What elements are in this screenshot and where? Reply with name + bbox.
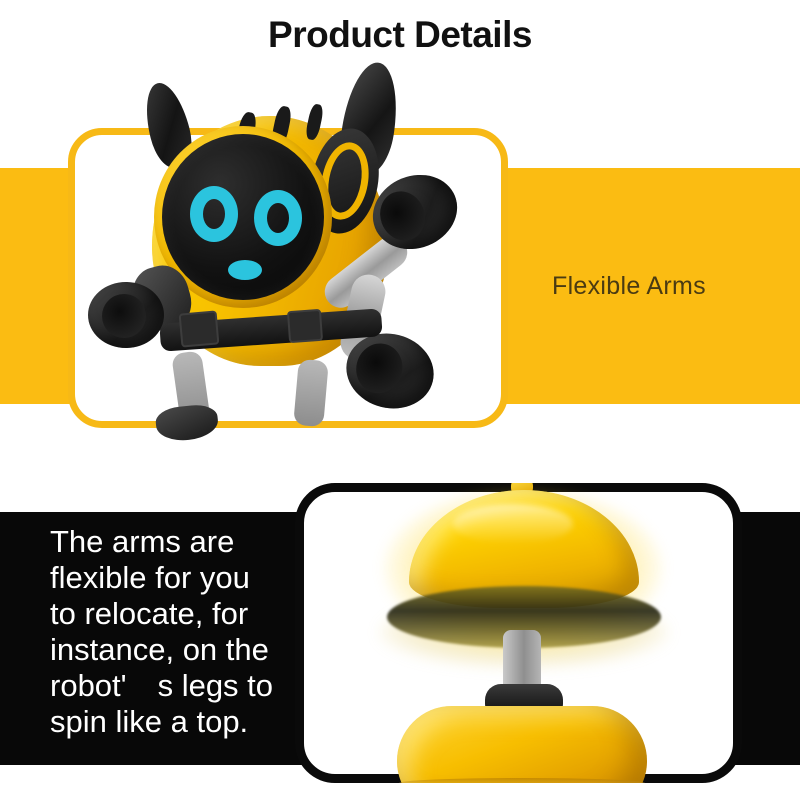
robot-eye-right [254, 190, 302, 246]
robot-mouth [228, 260, 262, 280]
robot-face-plate [162, 134, 324, 300]
robot-belt-buckle [179, 310, 220, 347]
spinning-top-photo-frame [295, 483, 742, 783]
robot-leg-right [293, 359, 329, 427]
product-details-page: Product Details Flexible Arms [0, 0, 800, 800]
flexible-arms-label: Flexible Arms [552, 272, 706, 301]
robot-foot-left [154, 403, 219, 443]
robot-belt-buckle [287, 309, 323, 343]
spin-top-description: The arms are flexible for you to relocat… [50, 524, 305, 740]
robot-hand-left [88, 282, 164, 348]
robot-eye-left [190, 186, 238, 242]
page-title: Product Details [0, 14, 800, 56]
robot-toy-image [60, 60, 480, 440]
